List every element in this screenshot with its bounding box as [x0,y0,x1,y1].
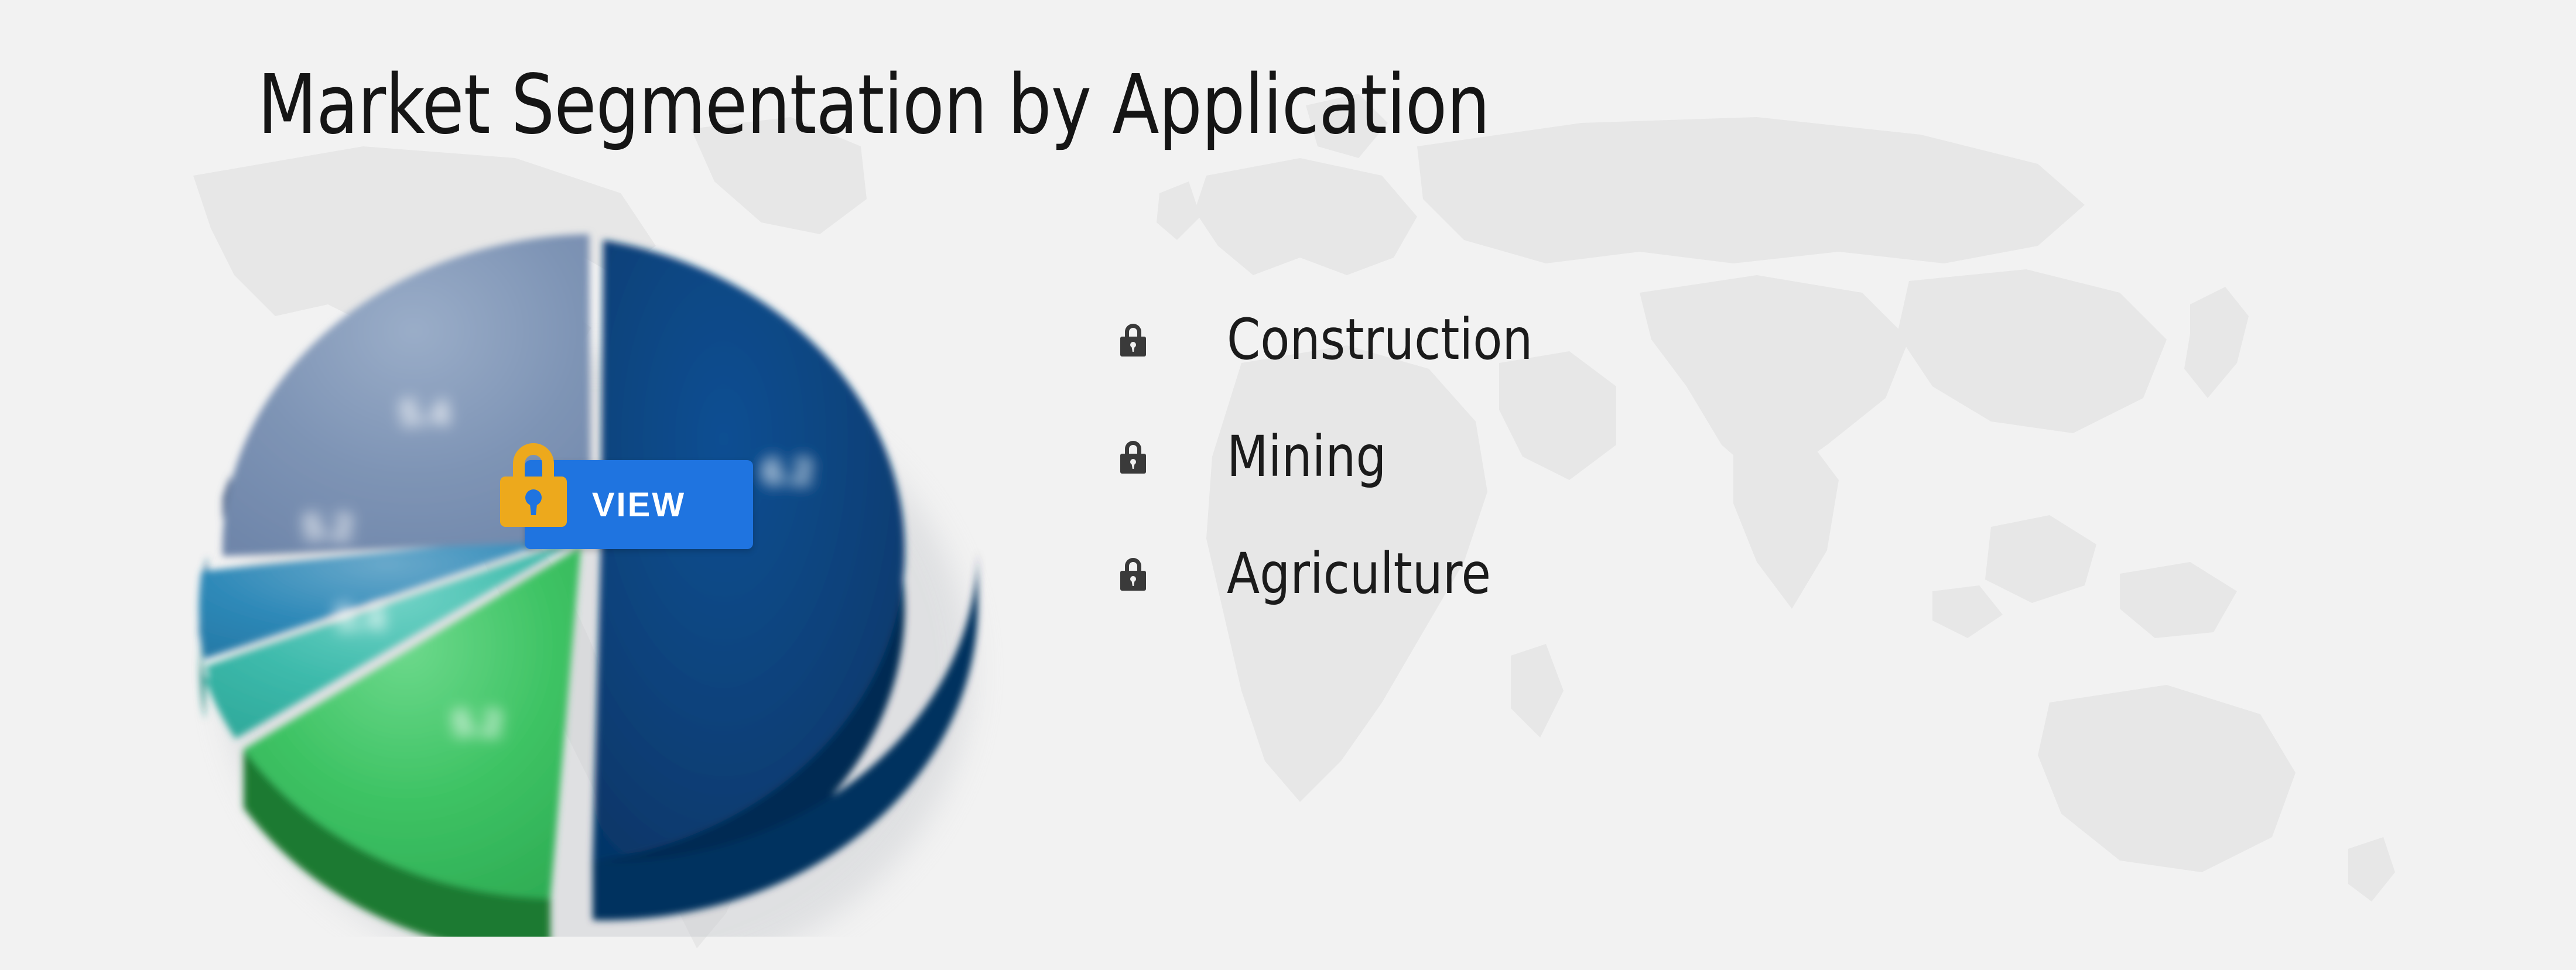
legend: Construction Mining [1116,281,1549,632]
slice-value-segment-5: 5.4 [399,393,450,433]
slice-value-construction: 6.2 [762,451,813,492]
slide-canvas: Market Segmentation by Application [0,0,2576,970]
lock-icon [1116,320,1151,359]
legend-item-mining[interactable]: Mining [1116,398,1549,515]
legend-item-construction[interactable]: Construction [1116,281,1549,398]
legend-item-label: Mining [1227,424,1387,489]
paywall-gate: VIEW [490,433,735,550]
legend-item-label: Construction [1227,307,1532,372]
legend-item-agriculture[interactable]: Agriculture [1116,515,1549,632]
slice-value-segment-4: 5.2 [303,507,353,547]
legend-item-label: Agriculture [1227,541,1491,606]
lock-icon [1116,554,1151,593]
lock-icon [1116,437,1151,476]
slice-value-mining: 5.4 [335,598,386,638]
slice-value-agriculture: 5.2 [452,703,502,743]
page-title: Market Segmentation by Application [258,64,1490,146]
padlock-icon [490,433,577,533]
view-button-label: VIEW [592,485,686,525]
